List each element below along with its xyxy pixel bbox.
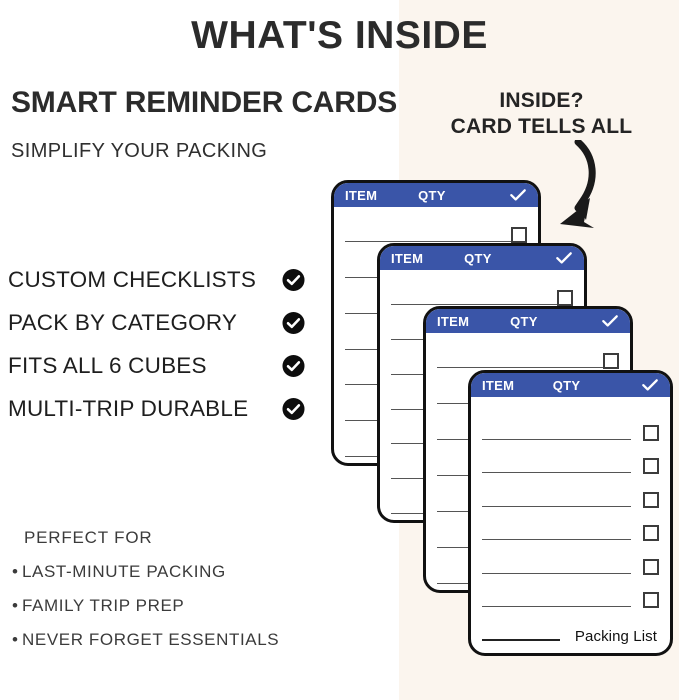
- checkmark-icon: [510, 189, 526, 202]
- empty-checkbox-icon[interactable]: [643, 458, 659, 474]
- checkmark-icon: [602, 315, 618, 328]
- check-circle-icon: [282, 354, 305, 377]
- feature-row: FITS ALL 6 CUBES: [8, 344, 310, 387]
- card-header: ITEMQTY: [471, 373, 670, 397]
- feature-row: MULTI-TRIP DURABLE: [8, 387, 310, 430]
- column-header-item: ITEM: [391, 251, 423, 266]
- column-header-qty: QTY: [553, 378, 581, 393]
- footer-write-line: [482, 639, 560, 641]
- check-circle-icon: [282, 268, 305, 291]
- card-body: Packing List: [471, 397, 670, 653]
- item-write-line: [482, 506, 631, 507]
- callout-line-2: CARD TELLS ALL: [404, 114, 679, 140]
- page-title: WHAT'S INSIDE: [0, 14, 679, 58]
- feature-label: FITS ALL 6 CUBES: [8, 353, 207, 379]
- product-subtitle: SMART REMINDER CARDS: [11, 86, 397, 120]
- empty-checkbox-icon[interactable]: [643, 525, 659, 541]
- feature-row: PACK BY CATEGORY: [8, 301, 310, 344]
- feature-list: CUSTOM CHECKLISTSPACK BY CATEGORYFITS AL…: [8, 258, 310, 430]
- bullet-icon: •: [12, 630, 22, 650]
- empty-checkbox-icon[interactable]: [643, 425, 659, 441]
- tagline: SIMPLIFY YOUR PACKING: [11, 140, 267, 163]
- empty-checkbox-icon[interactable]: [643, 559, 659, 575]
- bullet-icon: •: [12, 562, 22, 582]
- perfect-for-block: PERFECT FOR •LAST-MINUTE PACKING•FAMILY …: [12, 528, 342, 664]
- empty-checkbox-icon[interactable]: [643, 592, 659, 608]
- column-header-item: ITEM: [437, 314, 469, 329]
- column-header-qty: QTY: [418, 188, 446, 203]
- empty-checkbox-icon[interactable]: [603, 353, 619, 369]
- perfect-for-heading: PERFECT FOR: [24, 528, 342, 548]
- empty-checkbox-icon[interactable]: [643, 492, 659, 508]
- item-write-line: [482, 606, 631, 607]
- column-header-item: ITEM: [482, 378, 514, 393]
- empty-checkbox-icon[interactable]: [511, 227, 527, 243]
- perfect-for-item-label: FAMILY TRIP PREP: [22, 596, 184, 615]
- perfect-for-item: •NEVER FORGET ESSENTIALS: [12, 630, 342, 650]
- card-header: ITEMQTY: [380, 246, 584, 270]
- perfect-for-item-label: LAST-MINUTE PACKING: [22, 562, 226, 581]
- empty-checkbox-icon[interactable]: [557, 290, 573, 306]
- item-write-line: [482, 439, 631, 440]
- item-write-line: [391, 304, 559, 305]
- item-write-line: [437, 367, 605, 368]
- checkmark-icon: [642, 379, 658, 392]
- feature-label: MULTI-TRIP DURABLE: [8, 396, 248, 422]
- item-write-line: [482, 472, 631, 473]
- card-front[interactable]: ITEMQTYPacking List: [468, 370, 673, 656]
- check-circle-icon: [282, 311, 305, 334]
- callout-line-1: INSIDE?: [404, 88, 679, 114]
- column-header-item: ITEM: [345, 188, 377, 203]
- poster-root: WHAT'S INSIDE SMART REMINDER CARDS SIMPL…: [0, 0, 679, 700]
- feature-label: CUSTOM CHECKLISTS: [8, 267, 256, 293]
- callout-text: INSIDE? CARD TELLS ALL: [404, 88, 679, 140]
- perfect-for-item: •FAMILY TRIP PREP: [12, 596, 342, 616]
- perfect-for-item-label: NEVER FORGET ESSENTIALS: [22, 630, 279, 649]
- perfect-for-item: •LAST-MINUTE PACKING: [12, 562, 342, 582]
- feature-row: CUSTOM CHECKLISTS: [8, 258, 310, 301]
- checkmark-icon: [556, 252, 572, 265]
- item-write-line: [482, 539, 631, 540]
- perfect-for-items: •LAST-MINUTE PACKING•FAMILY TRIP PREP•NE…: [12, 562, 342, 650]
- item-write-line: [345, 241, 513, 242]
- item-write-line: [482, 573, 631, 574]
- bullet-icon: •: [12, 596, 22, 616]
- feature-label: PACK BY CATEGORY: [8, 310, 237, 336]
- curved-arrow-down-left-icon: [548, 140, 618, 236]
- card-header: ITEMQTY: [426, 309, 630, 333]
- column-header-qty: QTY: [510, 314, 538, 329]
- column-header-qty: QTY: [464, 251, 492, 266]
- card-header: ITEMQTY: [334, 183, 538, 207]
- check-circle-icon: [282, 397, 305, 420]
- card-footer-label: Packing List: [575, 628, 657, 645]
